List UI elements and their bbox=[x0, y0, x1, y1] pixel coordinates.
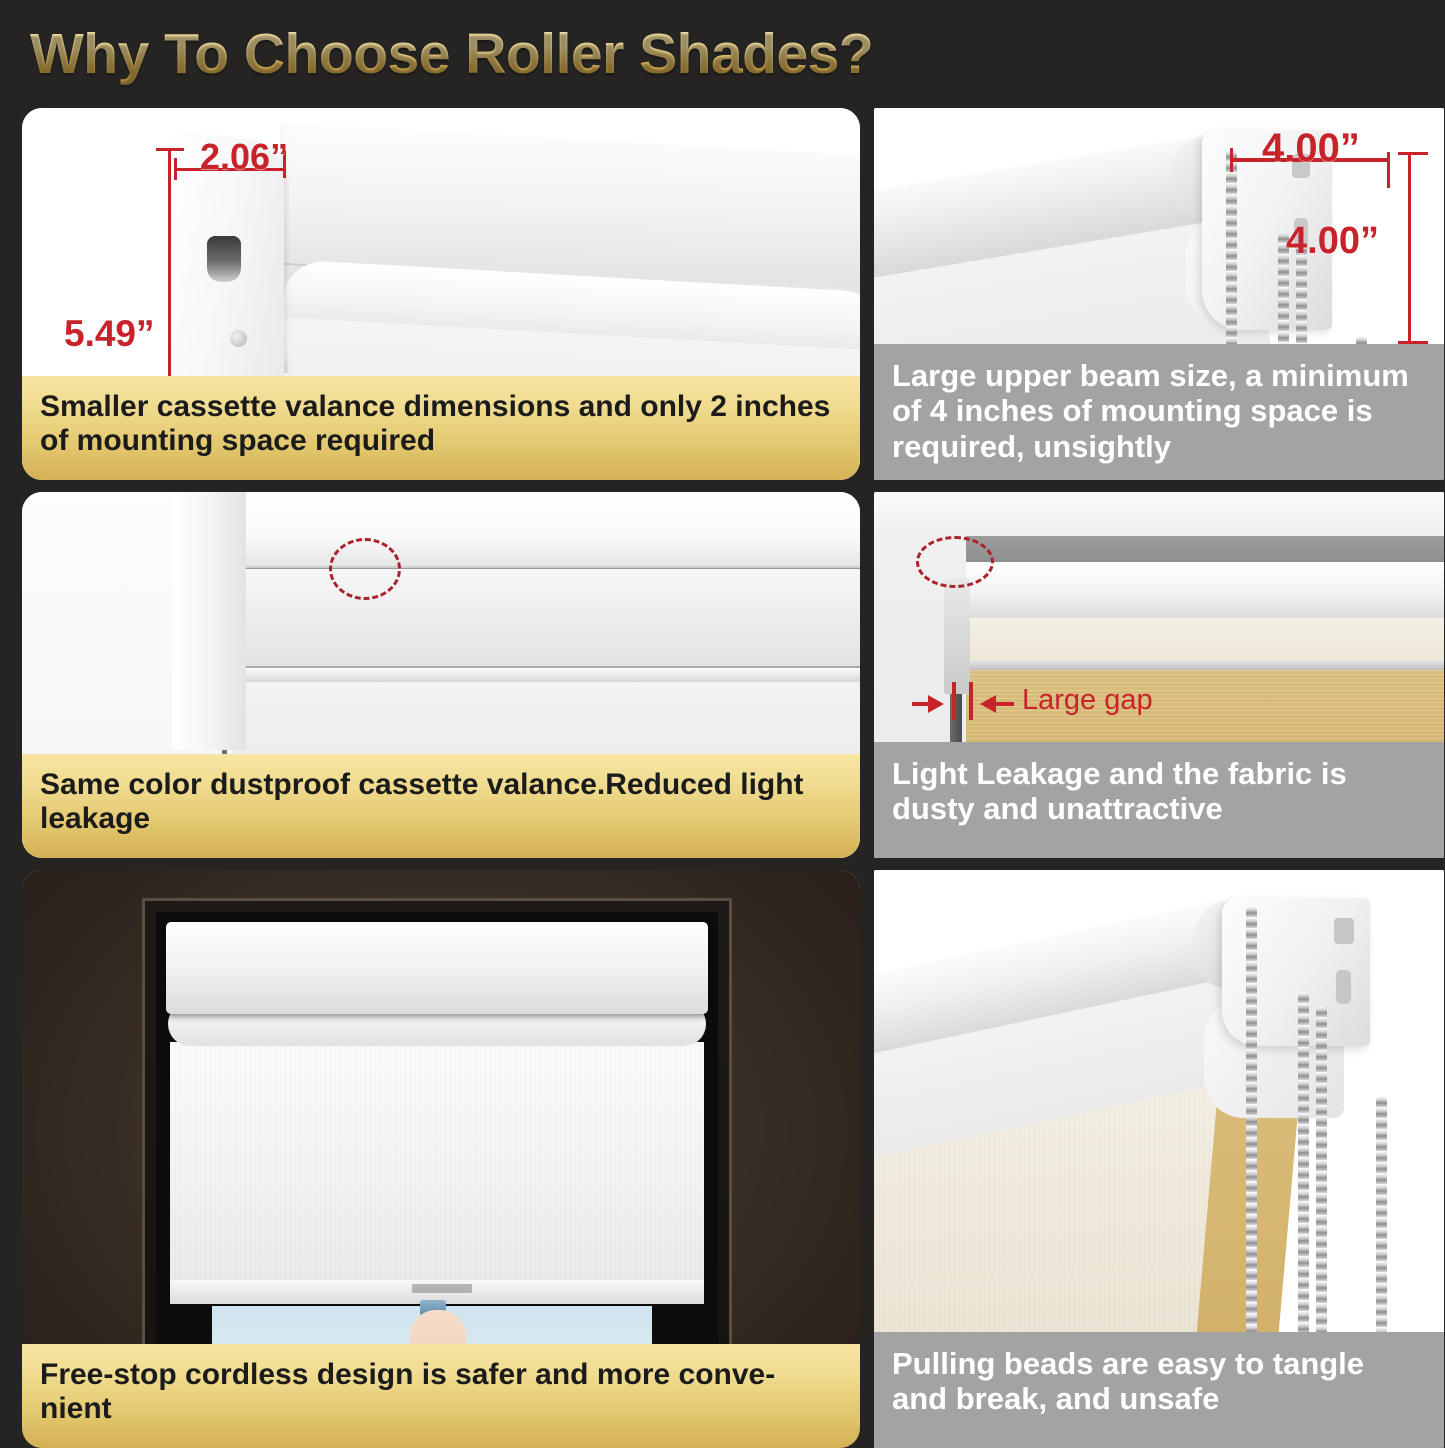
panel-pro-cassette-dimensions: 5.49” 2.06” Smaller cassette valance dim… bbox=[22, 108, 860, 480]
panel-caption-pro-cordless-design: Free-stop cordless design is safer and m… bbox=[22, 1344, 860, 1448]
comparison-grid: 5.49” 2.06” Smaller cassette valance dim… bbox=[0, 108, 1445, 1448]
panel-pro-dustproof-valance: smaller gap Same color dustproof cassett… bbox=[22, 492, 860, 858]
bead-chain bbox=[1376, 1096, 1387, 1346]
gap-arrow-left-icon bbox=[980, 695, 996, 713]
panel-caption-con-light-leakage: Light Leakage and the fabric is dusty an… bbox=[874, 742, 1444, 858]
panel-caption-con-pulling-beads: Pulling beads are easy to tangle and bre… bbox=[874, 1332, 1444, 1448]
dimension-label-width: 2.06” bbox=[200, 136, 288, 178]
bead-chain bbox=[1316, 1006, 1327, 1344]
bead-chain bbox=[1298, 992, 1309, 1344]
panel-con-large-upper-beam: 4.00” 4.00” Large upper beam size, a min… bbox=[874, 108, 1444, 480]
annotation-large-gap: Large gap bbox=[1022, 684, 1153, 717]
panel-con-light-leakage: Large gap Light Leakage and the fabric i… bbox=[874, 492, 1444, 858]
bracket-edge bbox=[944, 578, 970, 694]
page-header: Why To Choose Roller Shades? bbox=[0, 0, 1445, 108]
bead-chain bbox=[1226, 150, 1237, 365]
bracket-notch bbox=[1334, 918, 1354, 944]
panel-pro-cordless-design: Free-stop cordless design is safer and m… bbox=[22, 870, 860, 1448]
dimension-label-beam-height: 4.00” bbox=[1286, 220, 1379, 263]
panel-caption-pro-dustproof-valance: Same color dustproof cassette valance.Re… bbox=[22, 754, 860, 858]
dimension-label-height: 5.49” bbox=[64, 313, 155, 355]
brand-logo bbox=[412, 1284, 472, 1293]
cassette-slot bbox=[207, 236, 241, 282]
page-title: Why To Choose Roller Shades? bbox=[30, 21, 873, 87]
bead-chain bbox=[1246, 906, 1257, 1346]
screw-icon bbox=[230, 330, 247, 347]
gap-arrow-right-icon bbox=[928, 695, 944, 713]
bracket-notch bbox=[1336, 970, 1351, 1004]
panel-con-pulling-beads: Pulling beads are easy to tangle and bre… bbox=[874, 870, 1444, 1448]
panel-caption-con-large-upper-beam: Large upper beam size, a minimum of 4 in… bbox=[874, 344, 1444, 480]
dimension-label-beam-width: 4.00” bbox=[1262, 126, 1360, 171]
highlight-circle-seam bbox=[329, 538, 401, 600]
panel-caption-pro-cassette-dimensions: Smaller cassette valance dimensions and … bbox=[22, 376, 860, 480]
cassette-valance bbox=[166, 922, 708, 1014]
highlight-circle-gap bbox=[916, 536, 994, 588]
